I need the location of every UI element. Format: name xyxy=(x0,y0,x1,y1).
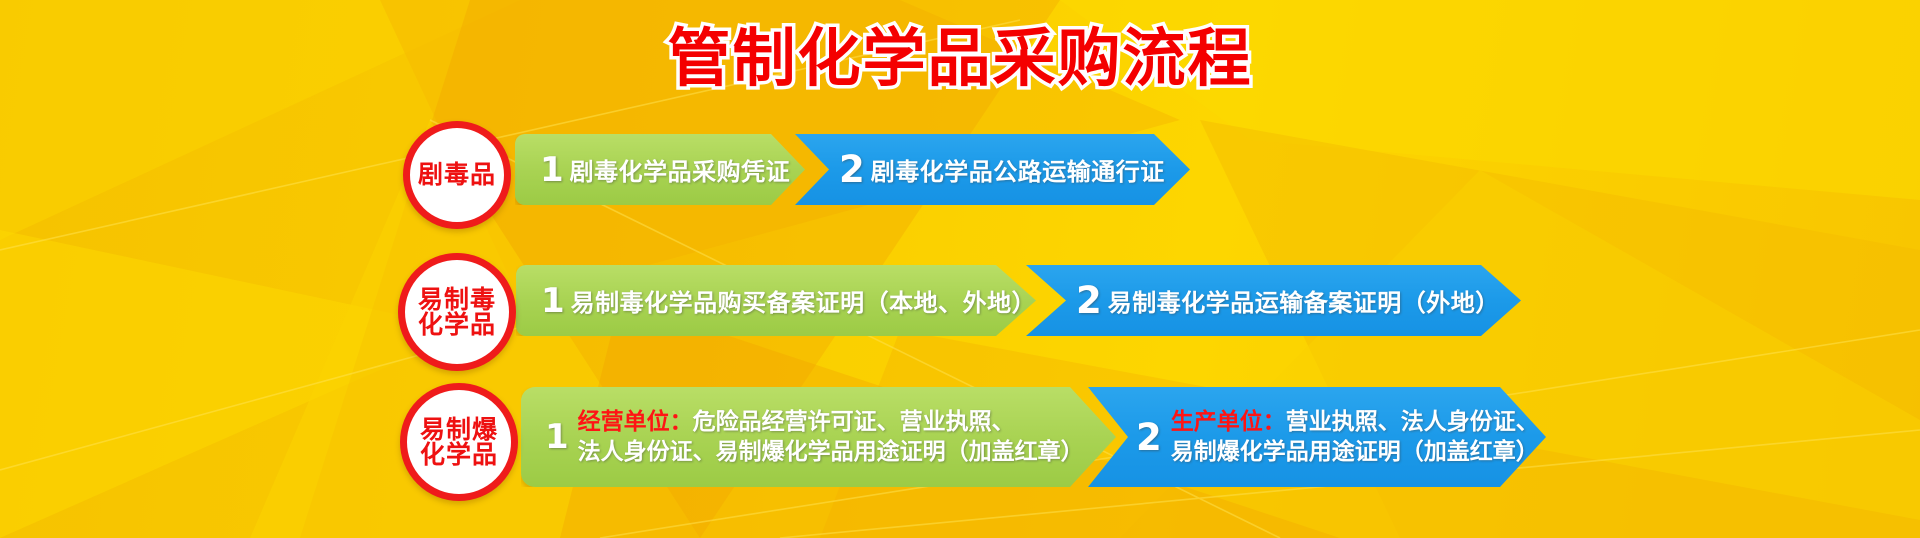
page-title: 管制化学品采购流程 xyxy=(0,8,1920,99)
row-3-step-2-line-2: 易制爆化学品用途证明（加盖红章） xyxy=(1171,437,1539,467)
row-3-step-2-text-1: 营业执照、法人身份证、 xyxy=(1286,409,1539,435)
row-2-step-2[interactable]: 2 易制毒化学品运输备案证明（外地） xyxy=(1026,265,1521,336)
row-3-step-1-lead: 经营单位： xyxy=(578,409,693,435)
category-badge-1: 剧毒品 xyxy=(403,121,511,229)
row-2-step-2-label: 易制毒化学品运输备案证明（外地） xyxy=(1108,283,1500,318)
row-3-step-1-number: 1 xyxy=(545,420,569,454)
row-3-step-2[interactable]: 2 生产单位：营业执照、法人身份证、 易制爆化学品用途证明（加盖红章） xyxy=(1088,387,1546,487)
row-1-step-2-label: 剧毒化学品公路运输通行证 xyxy=(871,152,1165,187)
category-badge-2-line-1: 易制毒 xyxy=(418,287,496,313)
row-2-step-2-number: 2 xyxy=(1076,282,1102,319)
row-3-step-1-text-1: 危险品经营许可证、营业执照、 xyxy=(693,409,1015,435)
category-badge-2: 易制毒 化学品 xyxy=(398,253,516,371)
row-3-step-2-line-1: 生产单位：营业执照、法人身份证、 xyxy=(1171,407,1539,437)
category-badge-3-line-1: 易制爆 xyxy=(420,417,498,443)
row-3-step-1-line-1: 经营单位：危险品经营许可证、营业执照、 xyxy=(578,407,1084,437)
row-1-step-1-number: 1 xyxy=(540,153,564,187)
row-2-step-1-number: 1 xyxy=(541,284,565,318)
row-2-step-1[interactable]: 1 易制毒化学品购买备案证明（本地、外地） xyxy=(516,265,1036,336)
category-badge-3-line-2: 化学品 xyxy=(420,442,498,468)
category-badge-1-line-1: 剧毒品 xyxy=(418,162,496,188)
category-badge-3: 易制爆 化学品 xyxy=(400,383,518,501)
row-2-step-1-label: 易制毒化学品购买备案证明（本地、外地） xyxy=(571,283,1037,318)
poster-canvas: 管制化学品采购流程 剧毒品 1 剧毒化学品采购凭证 2 剧毒化学品公路运输通行证… xyxy=(0,0,1920,538)
row-1-step-1[interactable]: 1 剧毒化学品采购凭证 xyxy=(515,134,805,205)
row-1-step-1-label: 剧毒化学品采购凭证 xyxy=(570,152,791,187)
category-badge-2-line-2: 化学品 xyxy=(418,312,496,338)
row-1-step-2[interactable]: 2 剧毒化学品公路运输通行证 xyxy=(795,134,1190,205)
row-3-step-1-line-2: 法人身份证、易制爆化学品用途证明（加盖红章） xyxy=(578,437,1084,467)
row-1-step-2-number: 2 xyxy=(839,151,865,188)
row-3-step-2-lead: 生产单位： xyxy=(1171,409,1286,435)
row-3-step-2-number: 2 xyxy=(1136,419,1162,456)
row-3-step-1[interactable]: 1 经营单位：危险品经营许可证、营业执照、 法人身份证、易制爆化学品用途证明（加… xyxy=(521,387,1116,487)
